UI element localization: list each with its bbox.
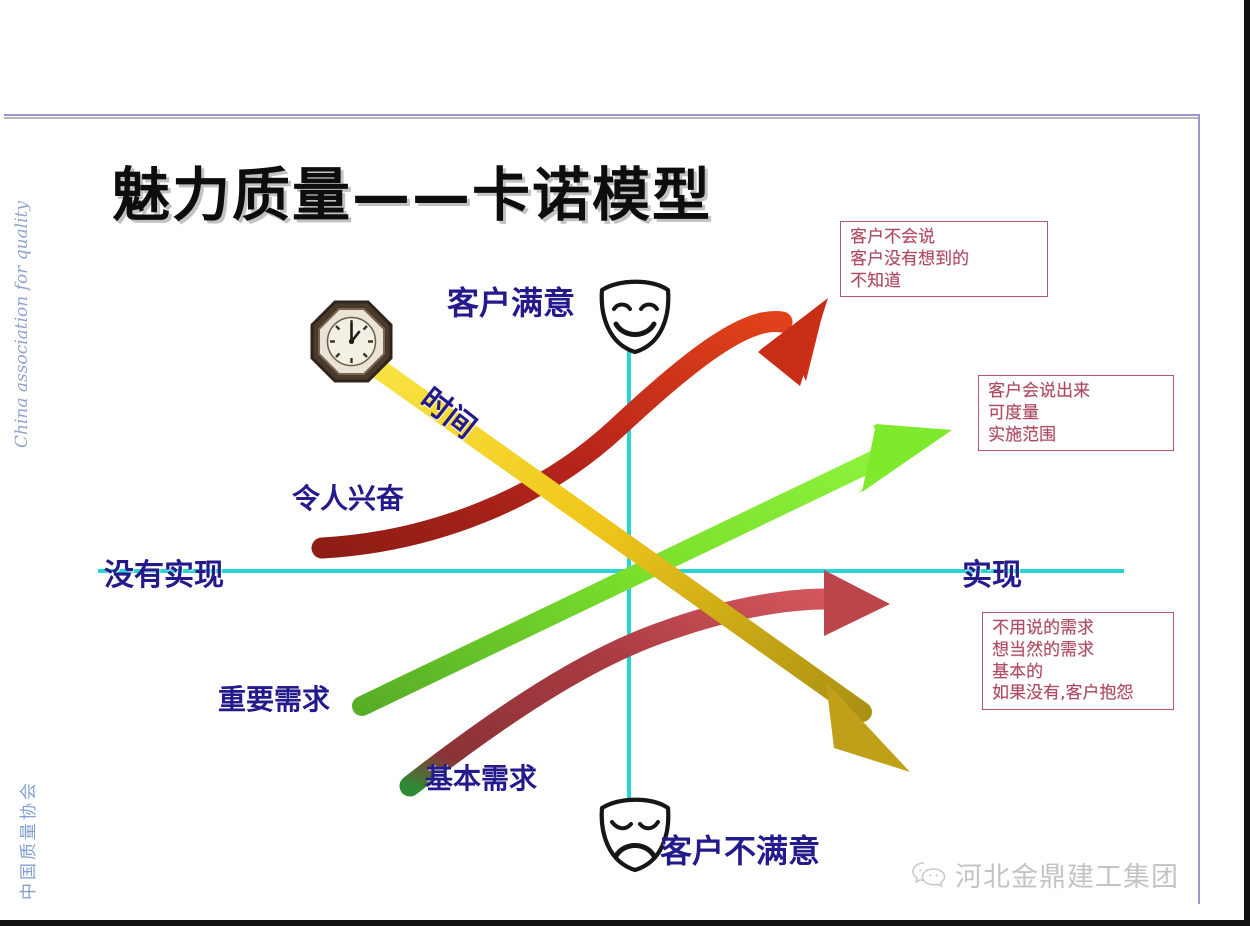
curve-label-attractive: 令人兴奋 — [292, 477, 404, 517]
callout-line: 想当然的需求 — [992, 640, 1164, 662]
brand-footer: 河北金鼎建工集团 — [912, 855, 1179, 894]
callout-basic-quality: 不用说的需求 想当然的需求 基本的 如果没有,客户抱怨 — [982, 612, 1174, 710]
callout-line: 客户没有想到的 — [850, 249, 1038, 271]
right-edge-bleed — [1244, 0, 1250, 926]
watermark-chinese: 中国质量协会 — [14, 780, 39, 900]
callout-performance-quality: 客户会说出来 可度量 实施范围 — [978, 375, 1174, 451]
callout-line: 如果没有,客户抱怨 — [992, 683, 1164, 705]
wechat-icon — [912, 861, 946, 889]
watermark-english: China association for quality — [12, 201, 32, 448]
callout-line: 可度量 — [988, 403, 1164, 425]
curve-label-performance: 重要需求 — [218, 678, 330, 718]
octagon-clock-icon — [312, 302, 391, 381]
brand-name: 河北金鼎建工集团 — [955, 855, 1179, 894]
axis-label-customer-dissatisfied: 客户不满意 — [660, 826, 820, 872]
axis-label-customer-satisfied: 客户满意 — [447, 278, 575, 324]
callout-line: 实施范围 — [988, 425, 1164, 447]
callout-line: 不知道 — [850, 271, 1038, 293]
callout-attractive-quality: 客户不会说 客户没有想到的 不知道 — [840, 221, 1048, 297]
curve-label-basic: 基本需求 — [425, 757, 537, 797]
callout-line: 基本的 — [992, 662, 1164, 684]
axis-label-realized: 实现 — [962, 550, 1022, 594]
callout-line: 客户会说出来 — [988, 381, 1164, 403]
sad-mask-icon — [602, 800, 669, 870]
bottom-edge-bleed — [0, 920, 1250, 926]
callout-line: 客户不会说 — [850, 227, 1038, 249]
axis-label-not-realized: 没有实现 — [104, 550, 224, 594]
callout-line: 不用说的需求 — [992, 618, 1164, 640]
kano-model-diagram — [0, 0, 1250, 926]
happy-mask-icon — [602, 282, 669, 352]
